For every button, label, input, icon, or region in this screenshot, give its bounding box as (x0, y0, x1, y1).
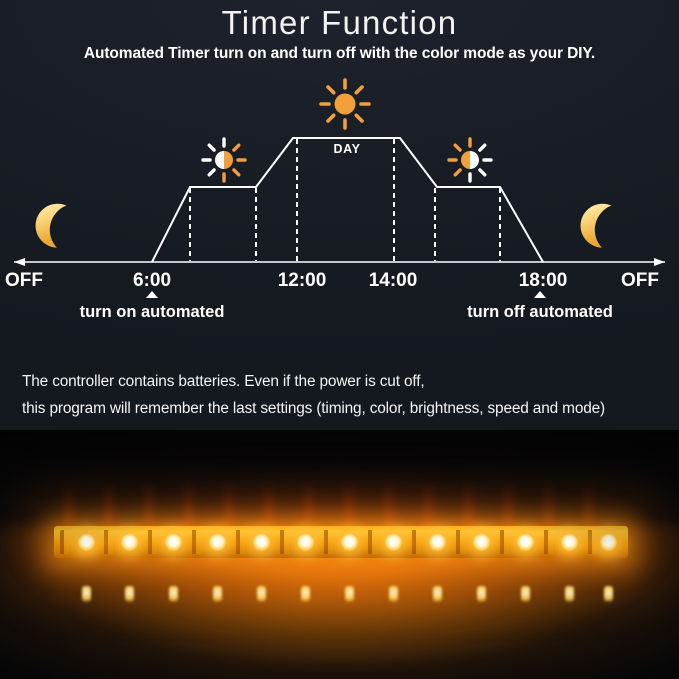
led-diode (78, 534, 95, 551)
battery-note-line-2: this program will remember the last sett… (22, 395, 662, 422)
led-diode-reflection (565, 586, 574, 602)
moon-icon (575, 198, 615, 249)
turn-on-marker-icon (146, 291, 158, 298)
led-diode-reflection (389, 586, 398, 602)
led-diode (517, 534, 534, 551)
led-diode (385, 534, 402, 551)
led-diode (473, 534, 490, 551)
led-diode (600, 534, 617, 551)
led-diode (561, 534, 578, 551)
turn-off-marker-icon (534, 291, 546, 298)
sun-icon (321, 80, 369, 128)
battery-note-line-1: The controller contains batteries. Even … (22, 368, 662, 395)
led-diode-reflection (521, 586, 530, 602)
turn-on-annotation: turn on automated (80, 303, 225, 322)
timer-chart (0, 75, 679, 325)
axis-tick-0600: 6:00 (133, 270, 171, 292)
axis-tick-1400: 14:00 (369, 270, 418, 292)
led-diode-reflection (213, 586, 222, 602)
led-diode-reflection (82, 586, 91, 602)
battery-note: The controller contains batteries. Even … (22, 368, 662, 422)
led-diode (341, 534, 358, 551)
chart-dashed-guides (190, 139, 500, 261)
led-diode-reflection (257, 586, 266, 602)
led-diode (209, 534, 226, 551)
timer-function-infographic: Timer Function Automated Timer turn on a… (0, 0, 679, 679)
led-diode-reflection (169, 586, 178, 602)
page-subtitle: Automated Timer turn on and turn off wit… (0, 45, 679, 63)
brightness-profile-line (152, 138, 543, 262)
page-title: Timer Function (0, 4, 679, 42)
axis-tick-1200: 12:00 (278, 270, 327, 292)
turn-off-annotation: turn off automated (467, 303, 613, 322)
led-diode (297, 534, 314, 551)
led-diode-reflection (477, 586, 486, 602)
axis-tick-1800: 18:00 (519, 270, 568, 292)
led-diode-reflection (345, 586, 354, 602)
led-diode (429, 534, 446, 551)
led-diode-reflection (301, 586, 310, 602)
led-diode (253, 534, 270, 551)
led-strip-photo (0, 430, 679, 679)
axis-tick-off-right: OFF (621, 270, 659, 292)
half-sun-left-icon (203, 139, 245, 181)
chart-axis (14, 258, 665, 266)
moon-icon (30, 198, 70, 249)
led-diode-reflection (604, 586, 613, 602)
axis-tick-off-left: OFF (5, 270, 43, 292)
led-diode (121, 534, 138, 551)
day-plateau-label: DAY (333, 142, 360, 156)
led-diode-reflection (433, 586, 442, 602)
half-sun-right-icon (449, 139, 491, 181)
led-diode-reflection (125, 586, 134, 602)
led-diode (165, 534, 182, 551)
